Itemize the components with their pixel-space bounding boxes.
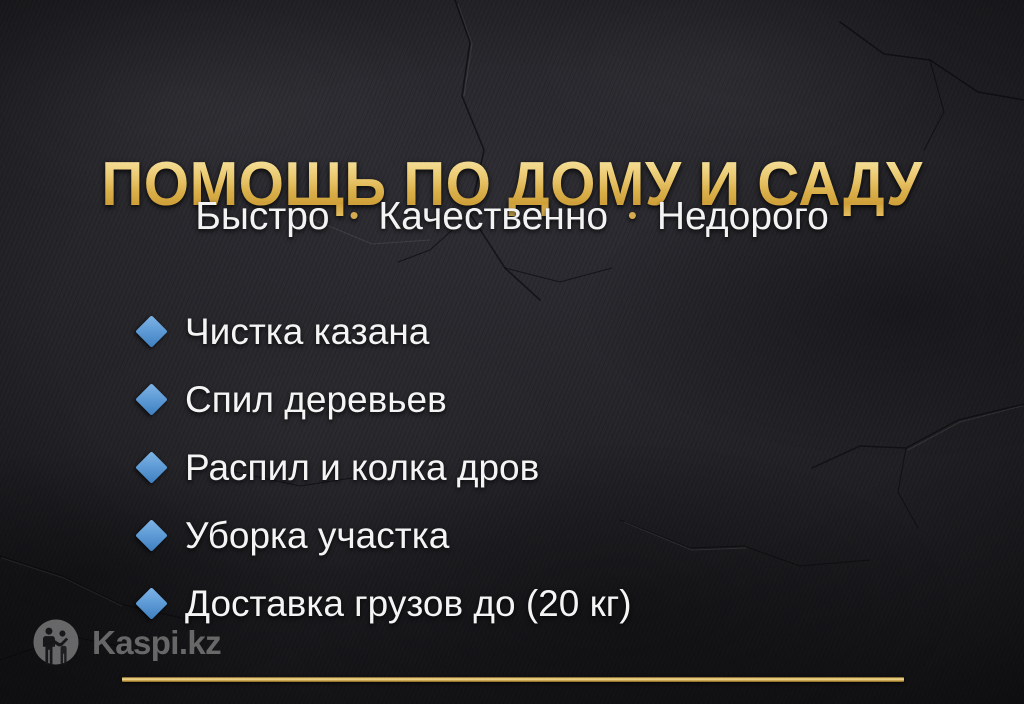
service-label: Распил и колка дров xyxy=(185,449,539,486)
poster-content: ПОМОЩЬ ПО ДОМУ И САДУ Быстро • Качествен… xyxy=(0,0,1024,704)
service-label: Спил деревьев xyxy=(185,381,447,418)
kaspi-watermark: Kaspi.kz xyxy=(32,618,221,666)
kaspi-brand-label: Kaspi.kz xyxy=(92,626,221,659)
subtitle-part-1: Быстро xyxy=(195,195,329,238)
service-label: Уборка участка xyxy=(185,517,449,554)
service-label: Чистка казана xyxy=(185,313,429,350)
services-list: Чистка казана Спил деревьев Распил и кол… xyxy=(140,297,632,637)
kaspi-people-circle-icon xyxy=(32,618,80,666)
list-item: Спил деревьев xyxy=(140,365,632,433)
gold-divider-rule xyxy=(122,677,904,682)
blue-diamond-bullet-icon xyxy=(135,315,168,348)
subtitle-part-2: Качественно xyxy=(378,195,608,238)
subtitle-part-3: Недорого xyxy=(657,195,829,238)
promo-poster: ПОМОЩЬ ПО ДОМУ И САДУ Быстро • Качествен… xyxy=(0,0,1024,704)
list-item: Чистка казана xyxy=(140,297,632,365)
blue-diamond-bullet-icon xyxy=(135,519,168,552)
blue-diamond-bullet-icon xyxy=(135,587,168,620)
subtitle-separator-dot-2: • xyxy=(619,200,646,230)
blue-diamond-bullet-icon xyxy=(135,451,168,484)
list-item: Распил и колка дров xyxy=(140,433,632,501)
poster-subtitle: Быстро • Качественно • Недорого xyxy=(0,196,1024,239)
service-label: Доставка грузов до (20 кг) xyxy=(185,585,632,622)
list-item: Уборка участка xyxy=(140,501,632,569)
blue-diamond-bullet-icon xyxy=(135,383,168,416)
subtitle-separator-dot-1: • xyxy=(340,200,367,230)
